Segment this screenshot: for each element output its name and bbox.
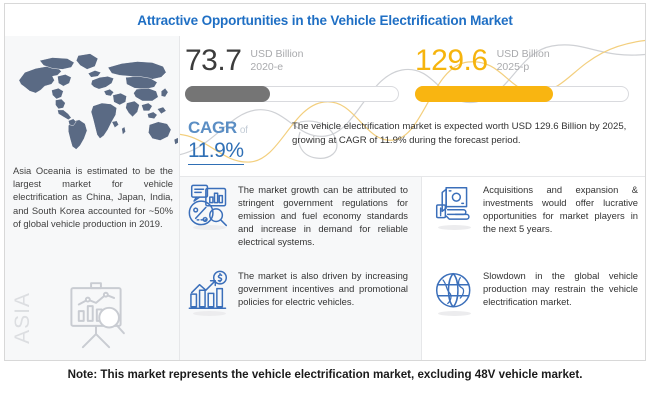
cagr-of-label: of <box>240 125 248 136</box>
insight-government-incentives: The market is also driven by increasing … <box>187 269 415 313</box>
page-title: Attractive Opportunities in the Vehicle … <box>137 13 513 28</box>
chart-presentation-analysis-icon <box>53 275 139 357</box>
kpi-2020-bar-fill <box>185 86 270 102</box>
kpi-2025-bar-track <box>415 86 629 102</box>
kpi-2025-bar-fill <box>415 86 553 102</box>
cagr-label: CAGR <box>188 118 237 137</box>
footer-note: Note: This market represents the vehicle… <box>0 368 650 381</box>
kpi-2020-bar-track <box>185 86 399 102</box>
kpi-2025-year: 2025-p <box>497 61 550 74</box>
kpi-2020: 73.7 USD Billion 2020-e <box>185 44 403 108</box>
insight-market-growth-text: The market growth can be attributed to s… <box>238 183 408 248</box>
kpi-2020-unit: USD Billion <box>250 48 303 60</box>
asia-watermark-row: ASIA <box>5 272 180 360</box>
world-map-icon <box>10 46 178 158</box>
globe-icon <box>432 269 476 313</box>
money-cash-hand-icon <box>432 183 476 227</box>
insight-panel-left: The market growth can be attributed to s… <box>180 177 422 361</box>
left-panel: Asia Oceania is estimated to be the larg… <box>5 36 180 361</box>
cagr-block: CAGRof 11.9% <box>188 118 298 165</box>
summary-text: The vehicle electrification market is ex… <box>292 120 642 147</box>
insight-acquisitions-investments-text: Acquisitions and expansion & investments… <box>483 183 638 235</box>
insight-government-incentives-text: The market is also driven by increasing … <box>238 269 408 313</box>
left-panel-description: Asia Oceania is estimated to be the larg… <box>13 164 173 230</box>
infographic-root: Attractive Opportunities in the Vehicle … <box>0 0 650 402</box>
growth-bar-chart-dollar-icon <box>187 269 231 313</box>
cagr-label-row: CAGRof <box>188 118 298 138</box>
kpi-2025-head: 129.6 USD Billion 2025-p <box>415 44 633 82</box>
kpi-2025-unit: USD Billion <box>497 48 550 60</box>
kpi-2025-value: 129.6 <box>415 44 488 78</box>
kpi-row: 73.7 USD Billion 2020-e 129.6 U <box>180 36 646 116</box>
kpi-2020-head: 73.7 USD Billion 2020-e <box>185 44 403 82</box>
insight-panel-right: Acquisitions and expansion & investments… <box>423 177 646 361</box>
kpi-2025-unit-block: USD Billion 2025-p <box>497 44 550 73</box>
main-panel: 73.7 USD Billion 2020-e 129.6 U <box>180 36 646 361</box>
title-bar: Attractive Opportunities in the Vehicle … <box>5 4 645 36</box>
kpi-2025: 129.6 USD Billion 2025-p <box>415 44 633 108</box>
cagr-value: 11.9% <box>188 139 244 165</box>
kpi-2020-unit-block: USD Billion 2020-e <box>250 44 303 73</box>
insight-production-slowdown: Slowdown in the global vehicle productio… <box>432 269 644 313</box>
insight-market-growth: The market growth can be attributed to s… <box>187 183 415 248</box>
report-analytics-percent-icon <box>187 183 231 227</box>
insight-production-slowdown-text: Slowdown in the global vehicle productio… <box>483 269 638 313</box>
insight-panels: The market growth can be attributed to s… <box>180 177 646 361</box>
asia-watermark-label: ASIA <box>11 292 35 344</box>
insight-acquisitions-investments: Acquisitions and expansion & investments… <box>432 183 644 235</box>
kpi-2020-year: 2020-e <box>250 61 303 74</box>
infographic-card: Attractive Opportunities in the Vehicle … <box>4 3 646 361</box>
kpi-2020-value: 73.7 <box>185 44 241 78</box>
